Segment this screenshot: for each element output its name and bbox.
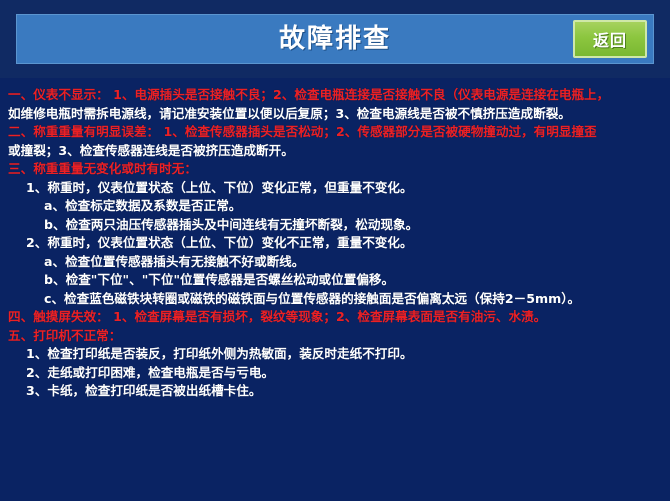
content-line: 如维修电瓶时需拆电源线，请记准安装位置以便以后复原；3、检查电源线是否被不慎挤压… xyxy=(8,105,662,124)
page-title: 故障排查 xyxy=(279,26,391,52)
content-line: 1、检查打印纸是否装反，打印纸外侧为热敏面，装反时走纸不打印。 xyxy=(8,345,662,364)
section-heading-line: 二、称重重量有明显误差： 1、检查传感器插头是否松动；2、传感器部分是否被硬物撞… xyxy=(8,123,662,142)
header-panel: 故障排查 返回 xyxy=(16,14,654,64)
troubleshooting-line-list: 一、仪表不显示： 1、电源插头是否接触不良；2、检查电瓶连接是否接触不良（仪表电… xyxy=(8,86,662,401)
section-heading-line: 五、打印机不正常： xyxy=(8,327,662,346)
content-line: 或撞裂；3、检查传感器连线是否被挤压造成断开。 xyxy=(8,142,662,161)
content-line: a、检查标定数据及系数是否正常。 xyxy=(8,197,662,216)
content-line: 1、称重时，仪表位置状态（上位、下位）变化正常，但重量不变化。 xyxy=(8,179,662,198)
section-heading-line: 三、称重重量无变化或时有时无： xyxy=(8,160,662,179)
section-heading-line: 一、仪表不显示： 1、电源插头是否接触不良；2、检查电瓶连接是否接触不良（仪表电… xyxy=(8,86,662,105)
content-line: c、检查蓝色磁铁块转圈或磁铁的磁铁面与位置传感器的接触面是否偏离太远（保持2－5… xyxy=(8,290,662,309)
content-line: b、检查"下位"、"下位"位置传感器是否螺丝松动或位置偏移。 xyxy=(8,271,662,290)
content-line: 2、走纸或打印困难，检查电瓶是否与亏电。 xyxy=(8,364,662,383)
troubleshooting-content: 一、仪表不显示： 1、电源插头是否接触不良；2、检查电瓶连接是否接触不良（仪表电… xyxy=(0,78,670,501)
content-line: b、检查两只油压传感器插头及中间连线有无撞坏断裂，松动现象。 xyxy=(8,216,662,235)
back-button[interactable]: 返回 xyxy=(573,20,647,58)
back-button-label: 返回 xyxy=(593,27,627,51)
header-bar: 故障排查 返回 xyxy=(0,0,670,78)
content-line: a、检查位置传感器插头有无接触不好或断线。 xyxy=(8,253,662,272)
section-heading-line: 四、触摸屏失效： 1、检查屏幕是否有损坏，裂纹等现象；2、检查屏幕表面是否有油污… xyxy=(8,308,662,327)
content-line: 2、称重时，仪表位置状态（上位、下位）变化不正常，重量不变化。 xyxy=(8,234,662,253)
content-line: 3、卡纸，检查打印纸是否被出纸槽卡住。 xyxy=(8,382,662,401)
troubleshooting-screen: 故障排查 返回 一、仪表不显示： 1、电源插头是否接触不良；2、检查电瓶连接是否… xyxy=(0,0,670,501)
